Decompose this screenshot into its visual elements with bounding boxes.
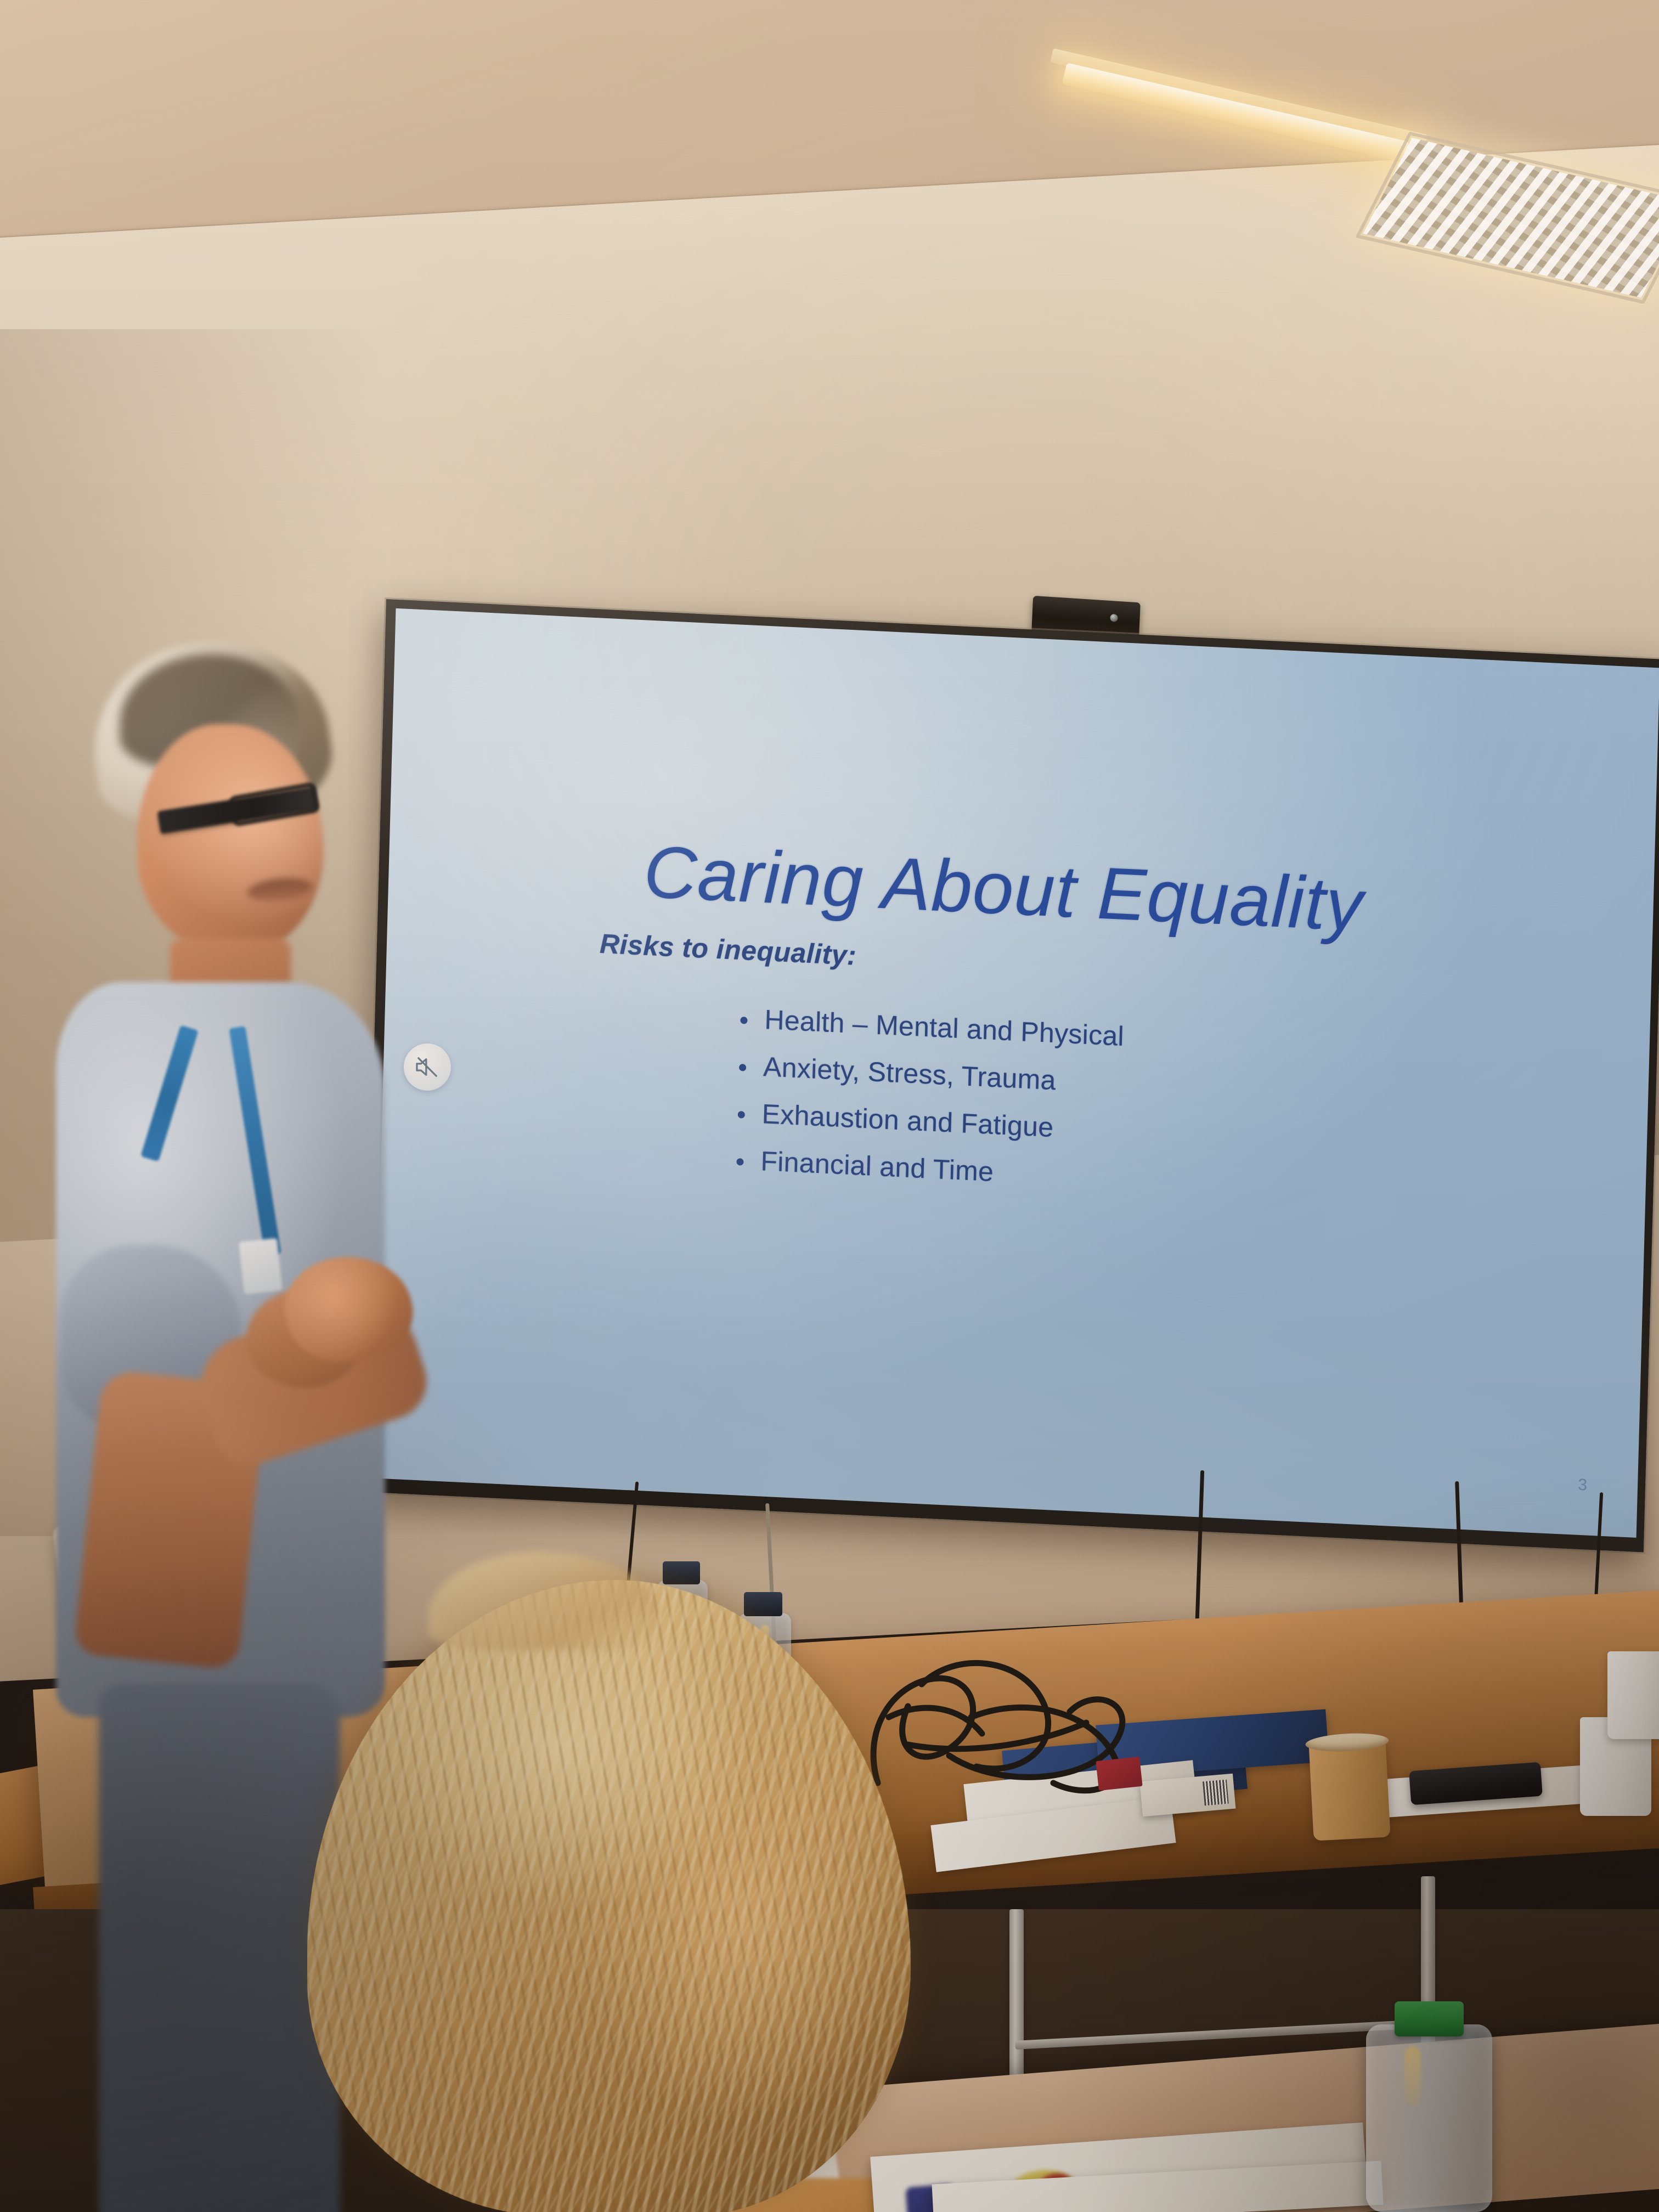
audience-member-foreground	[307, 1580, 966, 2212]
barcode-icon	[1203, 1780, 1229, 1806]
bottle-highlight	[1404, 2046, 1421, 2107]
red-label-packet	[1096, 1757, 1142, 1791]
mute-badge[interactable]	[404, 1043, 451, 1091]
slide-bullet-list: Health – Mental and Physical Anxiety, St…	[731, 1002, 1125, 1209]
audience-hair	[307, 1580, 911, 2212]
leaflet-title-text	[1155, 2146, 1162, 2168]
muted-speaker-icon	[413, 1053, 442, 1081]
bottle-cap-green	[1395, 2001, 1464, 2036]
slide-bullet-item: Health – Mental and Physical	[736, 1002, 1125, 1052]
hair-strand-texture	[307, 1580, 911, 2212]
id-badge	[239, 1238, 283, 1295]
paper-coffee-cup	[1308, 1738, 1390, 1841]
slide-bullet-item: Exhaustion and Fatigue	[733, 1097, 1122, 1147]
white-plastic-cup	[1607, 1651, 1659, 1739]
slide-bullet-item: Financial and Time	[732, 1144, 1121, 1194]
green-capped-water-bottle	[1366, 2024, 1492, 2212]
slide-number: 3	[1578, 1476, 1588, 1495]
webcam-lens-icon	[1110, 614, 1118, 622]
presentation-room-photo: Caring About Equality Risks to inequalit…	[0, 0, 1659, 2212]
presenter-legs	[99, 1684, 340, 2212]
slide-bullet-item: Anxiety, Stress, Trauma	[734, 1049, 1123, 1099]
